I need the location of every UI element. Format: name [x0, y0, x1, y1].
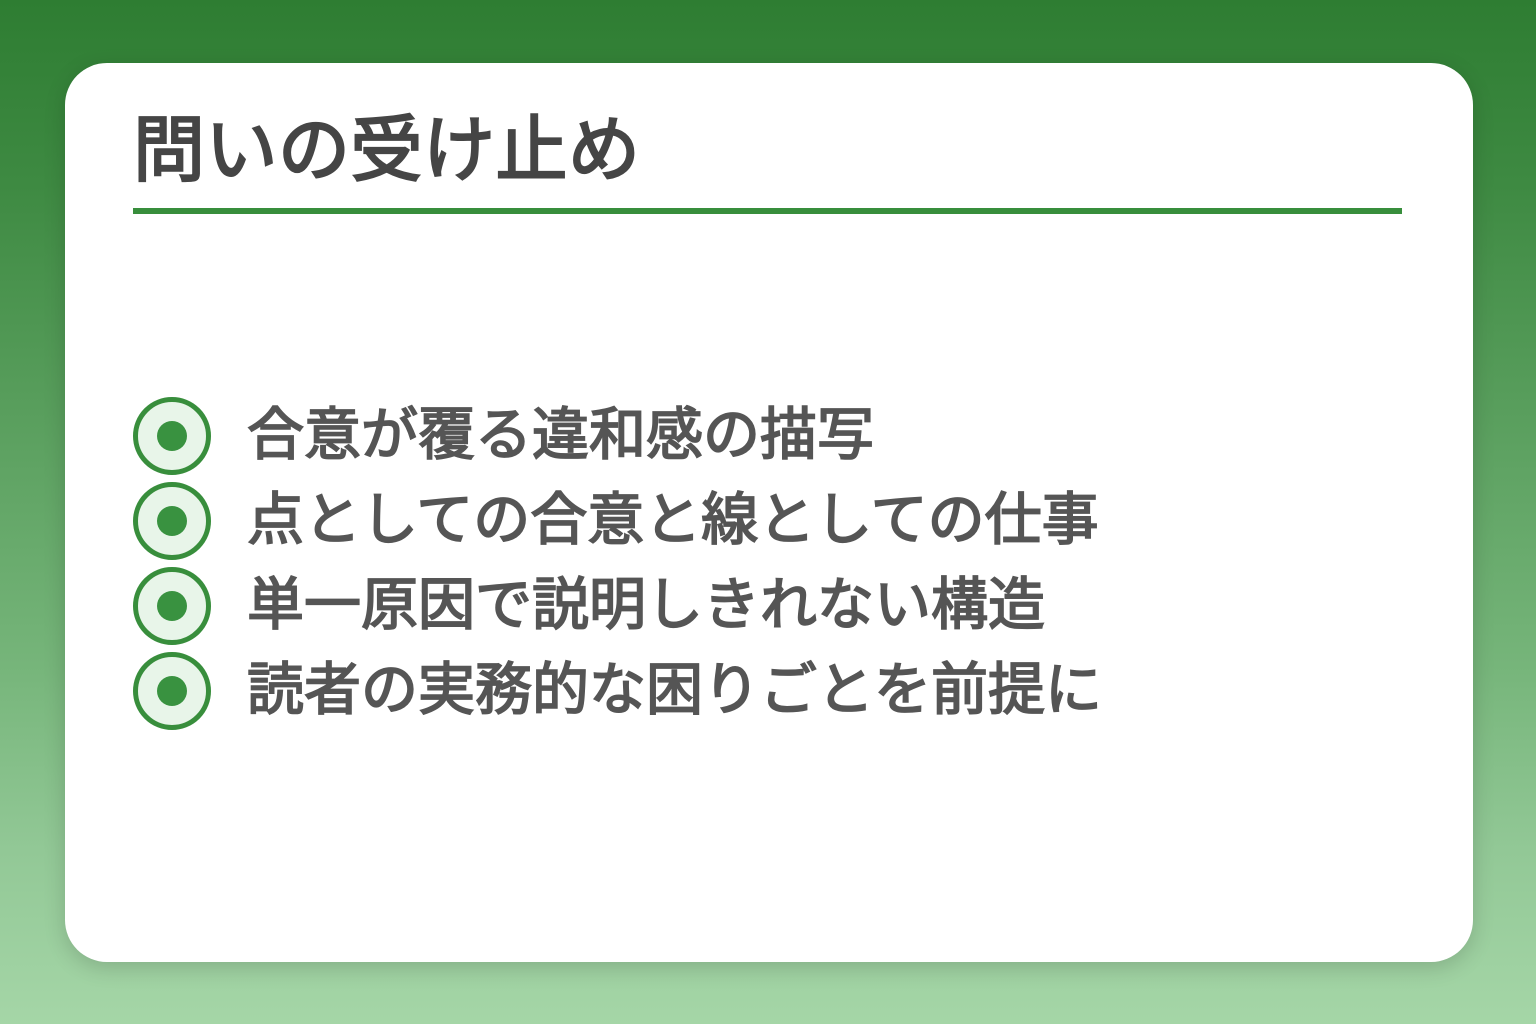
- bullet-circle-icon: [133, 652, 211, 730]
- bullet-label: 点としての合意と線としての仕事: [247, 491, 1099, 551]
- bullet-circle-icon: [133, 567, 211, 645]
- bullet-label: 合意が覆る違和感の描写: [247, 406, 874, 466]
- page-title: 問いの受け止め: [133, 115, 1402, 187]
- list-item: 読者の実務的な困りごとを前提に: [133, 648, 1403, 733]
- list-item: 合意が覆る違和感の描写: [133, 393, 1403, 478]
- bullet-dot-icon: [157, 676, 187, 706]
- list-item: 点としての合意と線としての仕事: [133, 478, 1403, 563]
- title-block: 問いの受け止め: [133, 115, 1402, 214]
- bullet-circle-icon: [133, 397, 211, 475]
- slide-card: 問いの受け止め 合意が覆る違和感の描写 点としての合意と線としての仕事: [65, 63, 1473, 962]
- bullet-label: 読者の実務的な困りごとを前提に: [247, 661, 1102, 721]
- title-divider: [133, 208, 1402, 214]
- bullet-dot-icon: [157, 591, 187, 621]
- bullet-dot-icon: [157, 506, 187, 536]
- list-item: 単一原因で説明しきれない構造: [133, 563, 1403, 648]
- bullet-label: 単一原因で説明しきれない構造: [247, 576, 1045, 636]
- bullet-circle-icon: [133, 482, 211, 560]
- bullet-list: 合意が覆る違和感の描写 点としての合意と線としての仕事 単一原因で説明しきれない…: [133, 393, 1403, 733]
- bullet-dot-icon: [157, 421, 187, 451]
- slide-canvas: 問いの受け止め 合意が覆る違和感の描写 点としての合意と線としての仕事: [0, 0, 1536, 1024]
